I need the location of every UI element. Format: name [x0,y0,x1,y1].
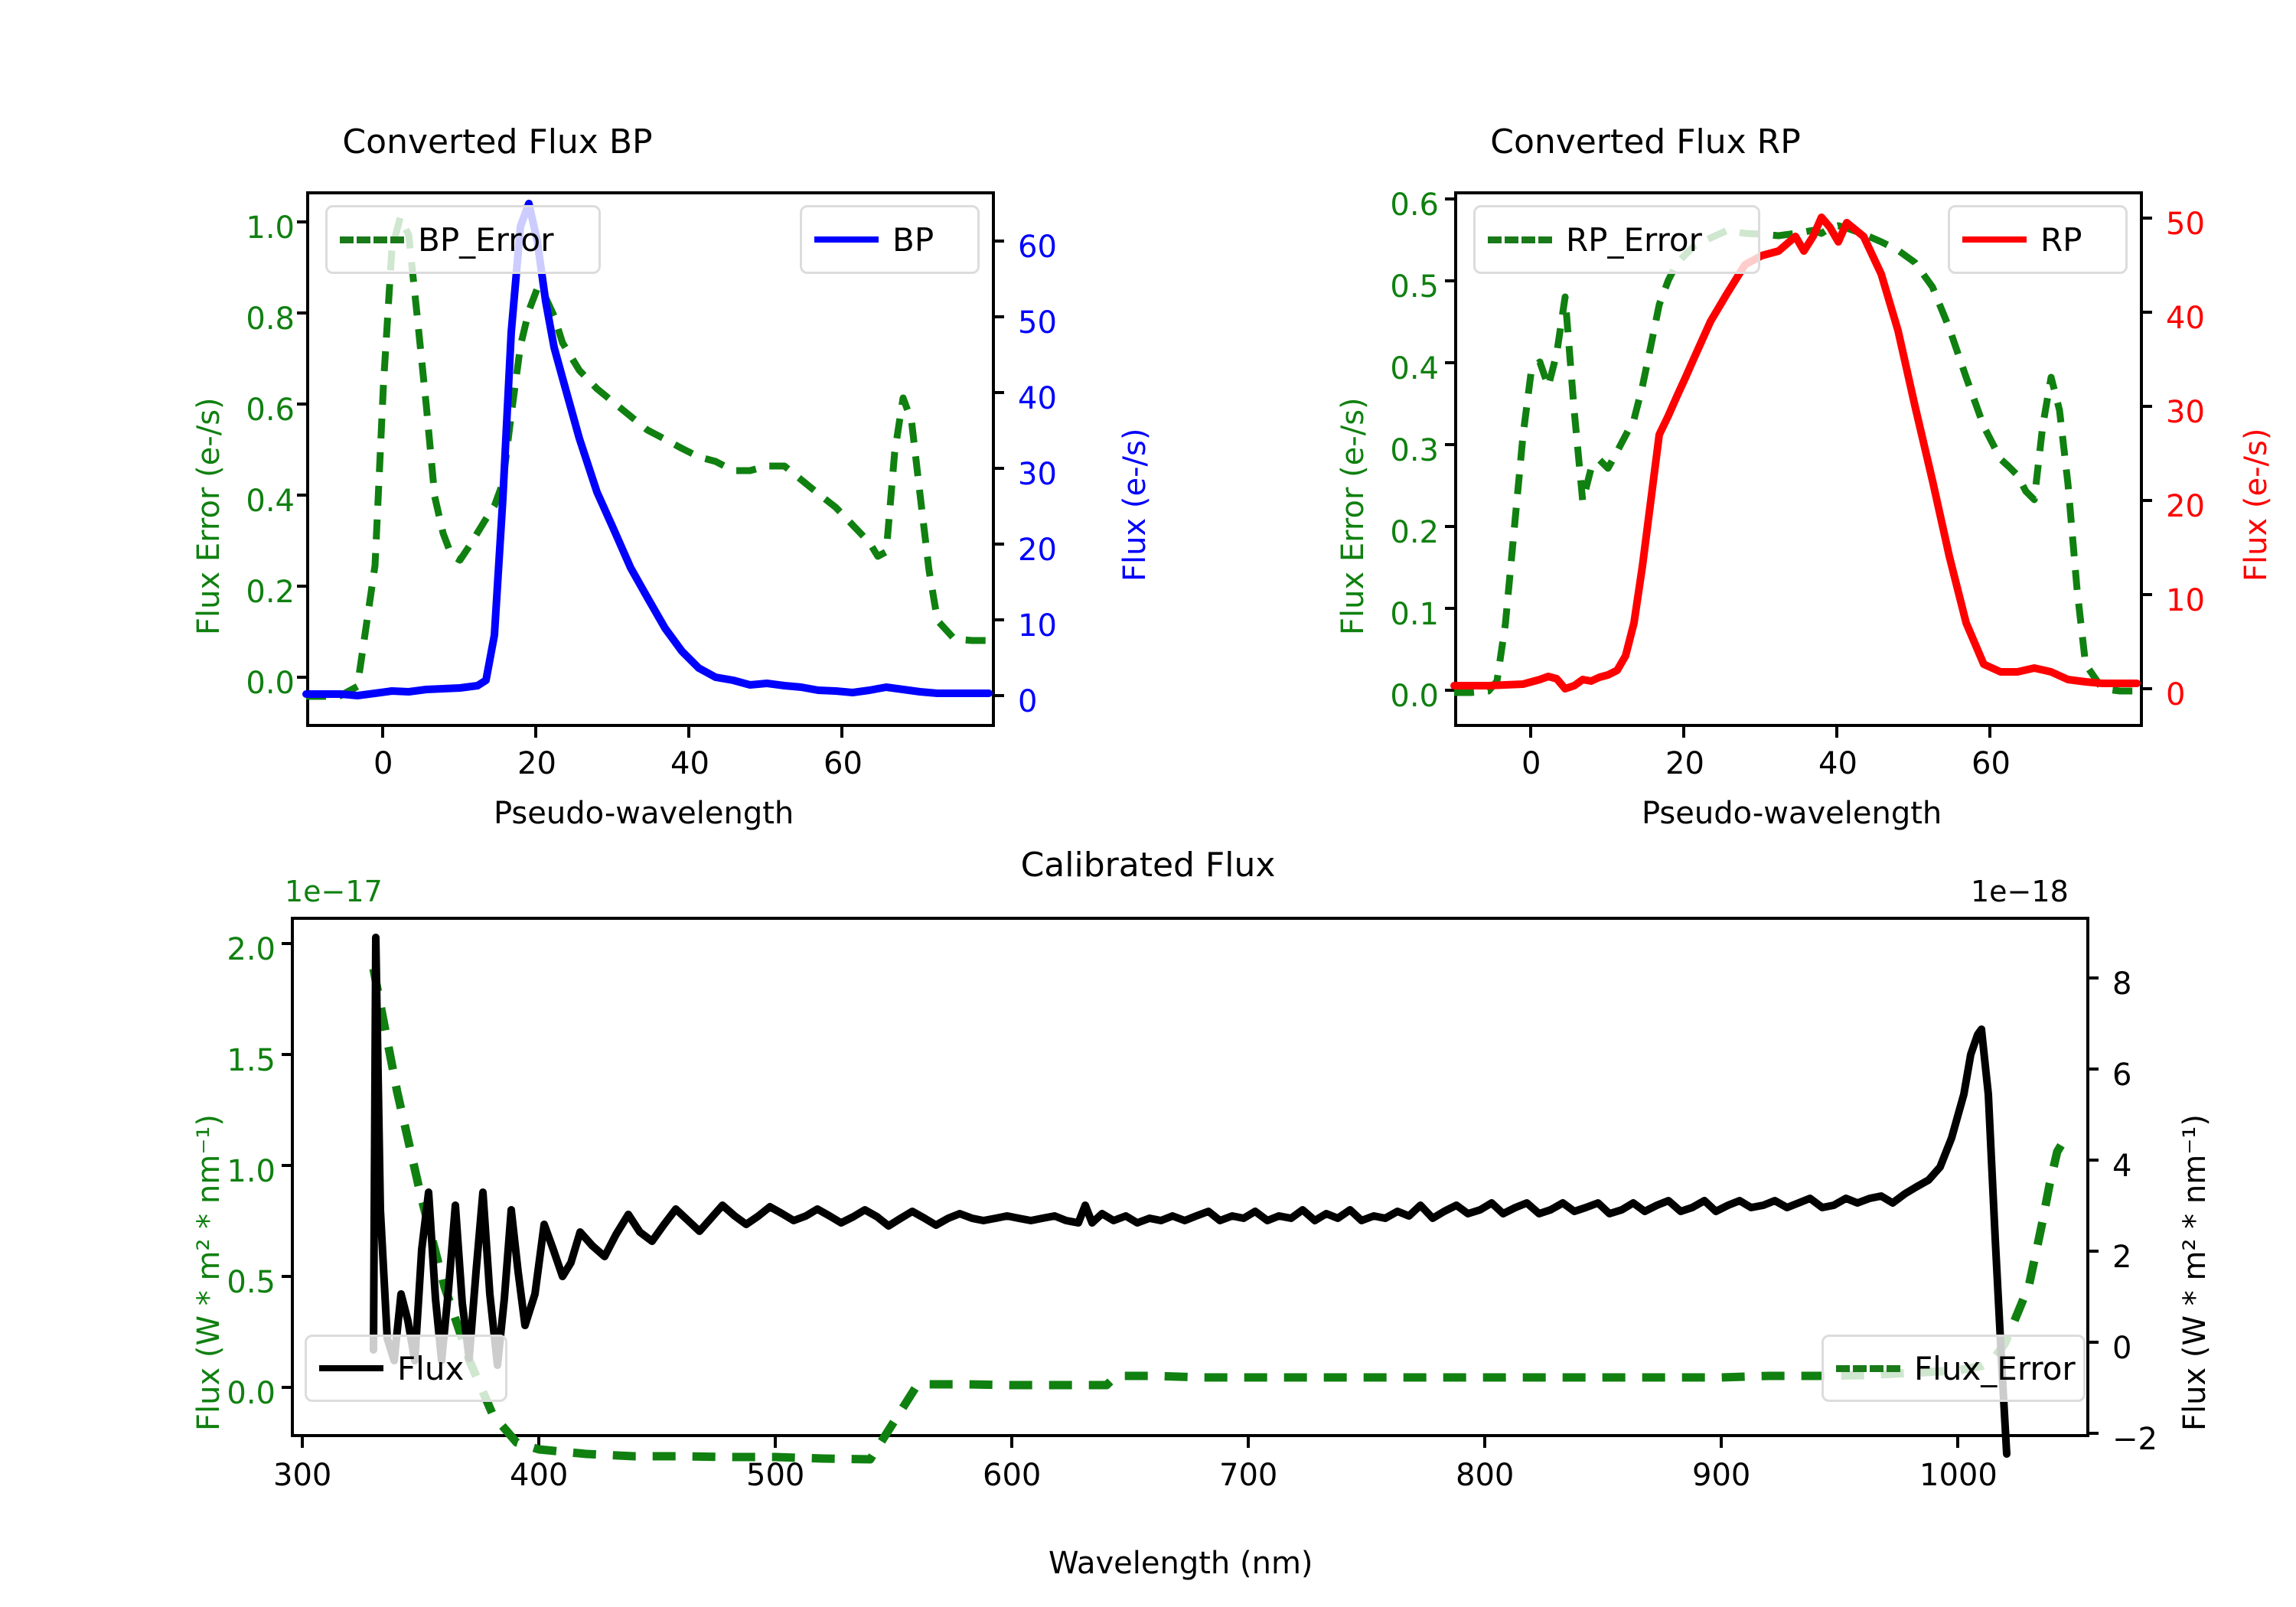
panel-converted-flux-rp: Converted Flux RP Flux Error (e-/s) Flux… [1148,0,2296,826]
panel-cal-legend-flux[interactable]: Flux [305,1335,507,1402]
panel-rp-plot [1148,0,2296,826]
legend-line-icon [1962,236,2027,243]
legend-line-icon [319,1365,383,1371]
panel-bp-plot [0,0,1148,826]
panel-rp-legend-rp[interactable]: RP [1948,205,2128,274]
series-rp-error [1454,226,2137,693]
panel-cal-legend-flux-error-label: Flux_Error [1914,1350,2076,1387]
legend-line-icon [814,236,879,243]
panel-rp-tickmarks [1445,199,2152,738]
panel-cal-plot [0,826,2296,1607]
legend-dash-icon [1836,1365,1900,1372]
panel-cal-legend-flux-error[interactable]: Flux_Error [1821,1335,2086,1402]
panel-rp-legend-rp-label: RP [2040,221,2082,259]
panel-cal-legend-flux-label: Flux [397,1350,464,1387]
panel-rp-legend-error[interactable]: RP_Error [1473,205,1760,274]
panel-bp-tickmarks [297,222,1004,738]
panel-bp-legend-error[interactable]: BP_Error [325,205,601,274]
legend-dash-icon [340,236,404,243]
panel-converted-flux-bp: Converted Flux BP Flux Error (e-/s) Flux… [0,0,1148,826]
legend-dash-icon [1488,236,1552,243]
panel-bp-legend-bp[interactable]: BP [800,205,980,274]
panel-calibrated-flux: Calibrated Flux 1e−17 1e−18 Flux (W * m²… [0,826,2296,1607]
series-bp-error [306,217,989,696]
panel-bp-legend-error-label: BP_Error [418,221,554,259]
series-bp [306,204,989,696]
figure-canvas: Converted Flux BP Flux Error (e-/s) Flux… [0,0,2296,1607]
panel-rp-legend-error-label: RP_Error [1566,221,1702,259]
series-rp [1454,217,2137,689]
panel-bp-legend-bp-label: BP [892,221,934,259]
